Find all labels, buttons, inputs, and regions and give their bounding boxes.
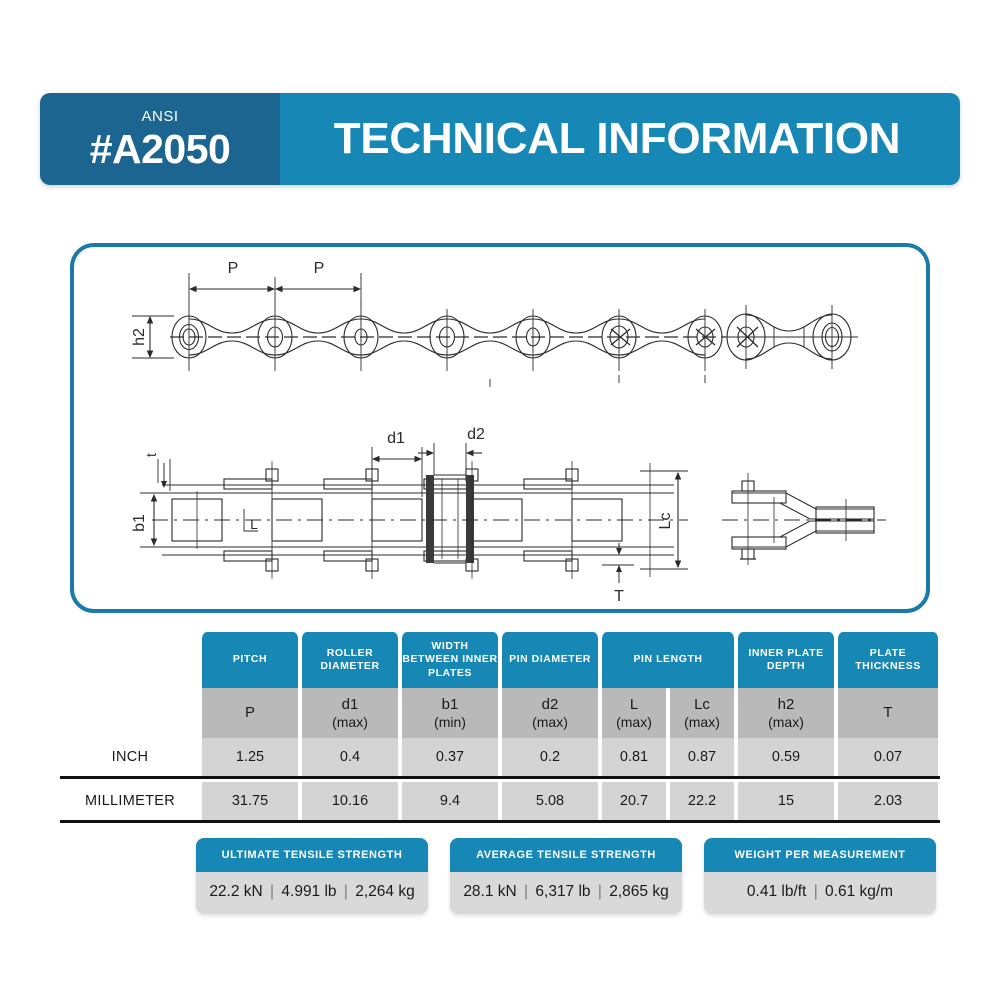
- value-separator: |: [341, 883, 351, 900]
- cell-inch-pin-length-l: 0.81: [600, 738, 668, 776]
- value-lb: 6,317 lb: [535, 883, 590, 900]
- row-label-inch: INCH: [60, 738, 200, 776]
- card-weight-per-measurement: WEIGHT PER MEASUREMENT 0.41 lb/ft | 0.61…: [704, 838, 936, 914]
- cell-mm-inner-plate-depth: 15: [736, 782, 836, 820]
- column-header-roller-diameter: ROLLER DIAMETER: [300, 632, 400, 688]
- dim-label-T: T: [614, 588, 624, 605]
- strength-card-group: ULTIMATE TENSILE STRENGTH 22.2 kN | 4.99…: [196, 838, 936, 914]
- dim-label-d2: d2: [467, 426, 485, 443]
- cell-mm-pin-diameter: 5.08: [500, 782, 600, 820]
- card-values: 0.41 lb/ft | 0.61 kg/m: [704, 872, 936, 914]
- dim-label-p2: P: [314, 260, 325, 277]
- figure-chain-plan-view: [140, 443, 688, 583]
- dim-label-d1: d1: [387, 430, 405, 447]
- cell-mm-pin-length-lc: 22.2: [668, 782, 736, 820]
- card-values: 28.1 kN | 6,317 lb | 2,865 kg: [450, 872, 682, 914]
- specification-table: PITCH ROLLER DIAMETER WIDTH BETWEEN INNE…: [60, 632, 940, 826]
- card-title: ULTIMATE TENSILE STRENGTH: [196, 838, 428, 872]
- symbol-width-between-inner-plates: b1 (min): [400, 688, 500, 738]
- cell-inch-inner-plate-depth: 0.59: [736, 738, 836, 776]
- technical-information-sheet: ANSI #A2050 TECHNICAL INFORMATION: [0, 0, 1000, 1000]
- value-lb-per-ft: 0.41 lb/ft: [747, 883, 806, 900]
- page-title: TECHNICAL INFORMATION: [280, 93, 960, 185]
- table-corner-cell: [60, 632, 200, 688]
- divider-segment: [60, 820, 200, 826]
- cell-inch-width-between-inner-plates: 0.37: [400, 738, 500, 776]
- column-header-plate-thickness: PLATE THICKNESS: [836, 632, 940, 688]
- table-row-inch: INCH 1.25 0.4 0.37 0.2 0.81 0.87 0.59 0.…: [60, 738, 940, 776]
- column-header-pitch: PITCH: [200, 632, 300, 688]
- value-kg: 2,865 kg: [609, 883, 668, 900]
- cell-inch-pin-diameter: 0.2: [500, 738, 600, 776]
- cell-mm-width-between-inner-plates: 9.4: [400, 782, 500, 820]
- cell-inch-roller-diameter: 0.4: [300, 738, 400, 776]
- dim-label-lc: Lc: [657, 513, 674, 530]
- symbol-plate-thickness: T: [836, 688, 940, 738]
- cell-inch-pin-length-lc: 0.87: [668, 738, 736, 776]
- table-row-millimeter: MILLIMETER 31.75 10.16 9.4 5.08 20.7 22.…: [60, 782, 940, 820]
- page-header: ANSI #A2050 TECHNICAL INFORMATION: [40, 93, 960, 185]
- value-separator: |: [267, 883, 277, 900]
- standard-label: ANSI: [141, 109, 178, 124]
- chain-dimension-drawing: P P h2 t b1 d1 d2 Lc T L: [74, 247, 926, 609]
- card-ultimate-tensile-strength: ULTIMATE TENSILE STRENGTH 22.2 kN | 4.99…: [196, 838, 428, 914]
- card-values: 22.2 kN | 4.991 lb | 2,264 kg: [196, 872, 428, 914]
- divider-segment: [200, 820, 940, 826]
- symbol-inner-plate-depth: h2 (max): [736, 688, 836, 738]
- symbol-row-label-cell: [60, 688, 200, 738]
- dim-label-h2: h2: [131, 328, 148, 346]
- figure-chain-side-elevation: [132, 273, 726, 387]
- table-divider-2: [60, 820, 940, 826]
- card-average-tensile-strength: AVERAGE TENSILE STRENGTH 28.1 kN | 6,317…: [450, 838, 682, 914]
- symbol-roller-diameter: d1 (max): [300, 688, 400, 738]
- row-label-millimeter: MILLIMETER: [60, 782, 200, 820]
- dim-label-t: t: [143, 453, 159, 457]
- value-separator: |: [595, 883, 605, 900]
- column-header-width-between-inner-plates: WIDTH BETWEEN INNER PLATES: [400, 632, 500, 688]
- cell-inch-plate-thickness: 0.07: [836, 738, 940, 776]
- value-kg: 2,264 kg: [355, 883, 414, 900]
- column-header-pin-diameter: PIN DIAMETER: [500, 632, 600, 688]
- dimension-diagram-panel: P P h2 t b1 d1 d2 Lc T L: [70, 243, 930, 613]
- symbol-pin-diameter: d2 (max): [500, 688, 600, 738]
- column-header-pin-length: PIN LENGTH: [600, 632, 736, 688]
- table-symbol-row: P d1 (max) b1 (min) d2 (max) L (max): [60, 688, 940, 738]
- value-separator: |: [811, 883, 821, 900]
- cell-mm-roller-diameter: 10.16: [300, 782, 400, 820]
- cell-inch-pitch: 1.25: [200, 738, 300, 776]
- card-title: AVERAGE TENSILE STRENGTH: [450, 838, 682, 872]
- symbol-pitch: P: [200, 688, 300, 738]
- dim-label-p1: P: [228, 260, 239, 277]
- column-header-inner-plate-depth: INNER PLATE DEPTH: [736, 632, 836, 688]
- cell-mm-plate-thickness: 2.03: [836, 782, 940, 820]
- chain-code: #A2050: [90, 129, 231, 170]
- value-separator: |: [521, 883, 531, 900]
- dim-label-b1: b1: [131, 514, 148, 532]
- figure-connecting-link-elevation: [722, 305, 858, 369]
- symbol-pin-length-l: L (max): [600, 688, 668, 738]
- dim-label-l: L: [250, 516, 258, 532]
- value-lb: 4.991 lb: [281, 883, 336, 900]
- chain-code-badge: ANSI #A2050: [40, 93, 280, 185]
- table-header-row: PITCH ROLLER DIAMETER WIDTH BETWEEN INNE…: [60, 632, 940, 688]
- value-kg-per-m: 0.61 kg/m: [825, 883, 893, 900]
- symbol-pin-length-lc: Lc (max): [668, 688, 736, 738]
- value-kn: 28.1 kN: [463, 883, 516, 900]
- cell-mm-pin-length-l: 20.7: [600, 782, 668, 820]
- figure-offset-link-plan-view: [722, 473, 886, 565]
- value-kn: 22.2 kN: [209, 883, 262, 900]
- cell-mm-pitch: 31.75: [200, 782, 300, 820]
- card-title: WEIGHT PER MEASUREMENT: [704, 838, 936, 872]
